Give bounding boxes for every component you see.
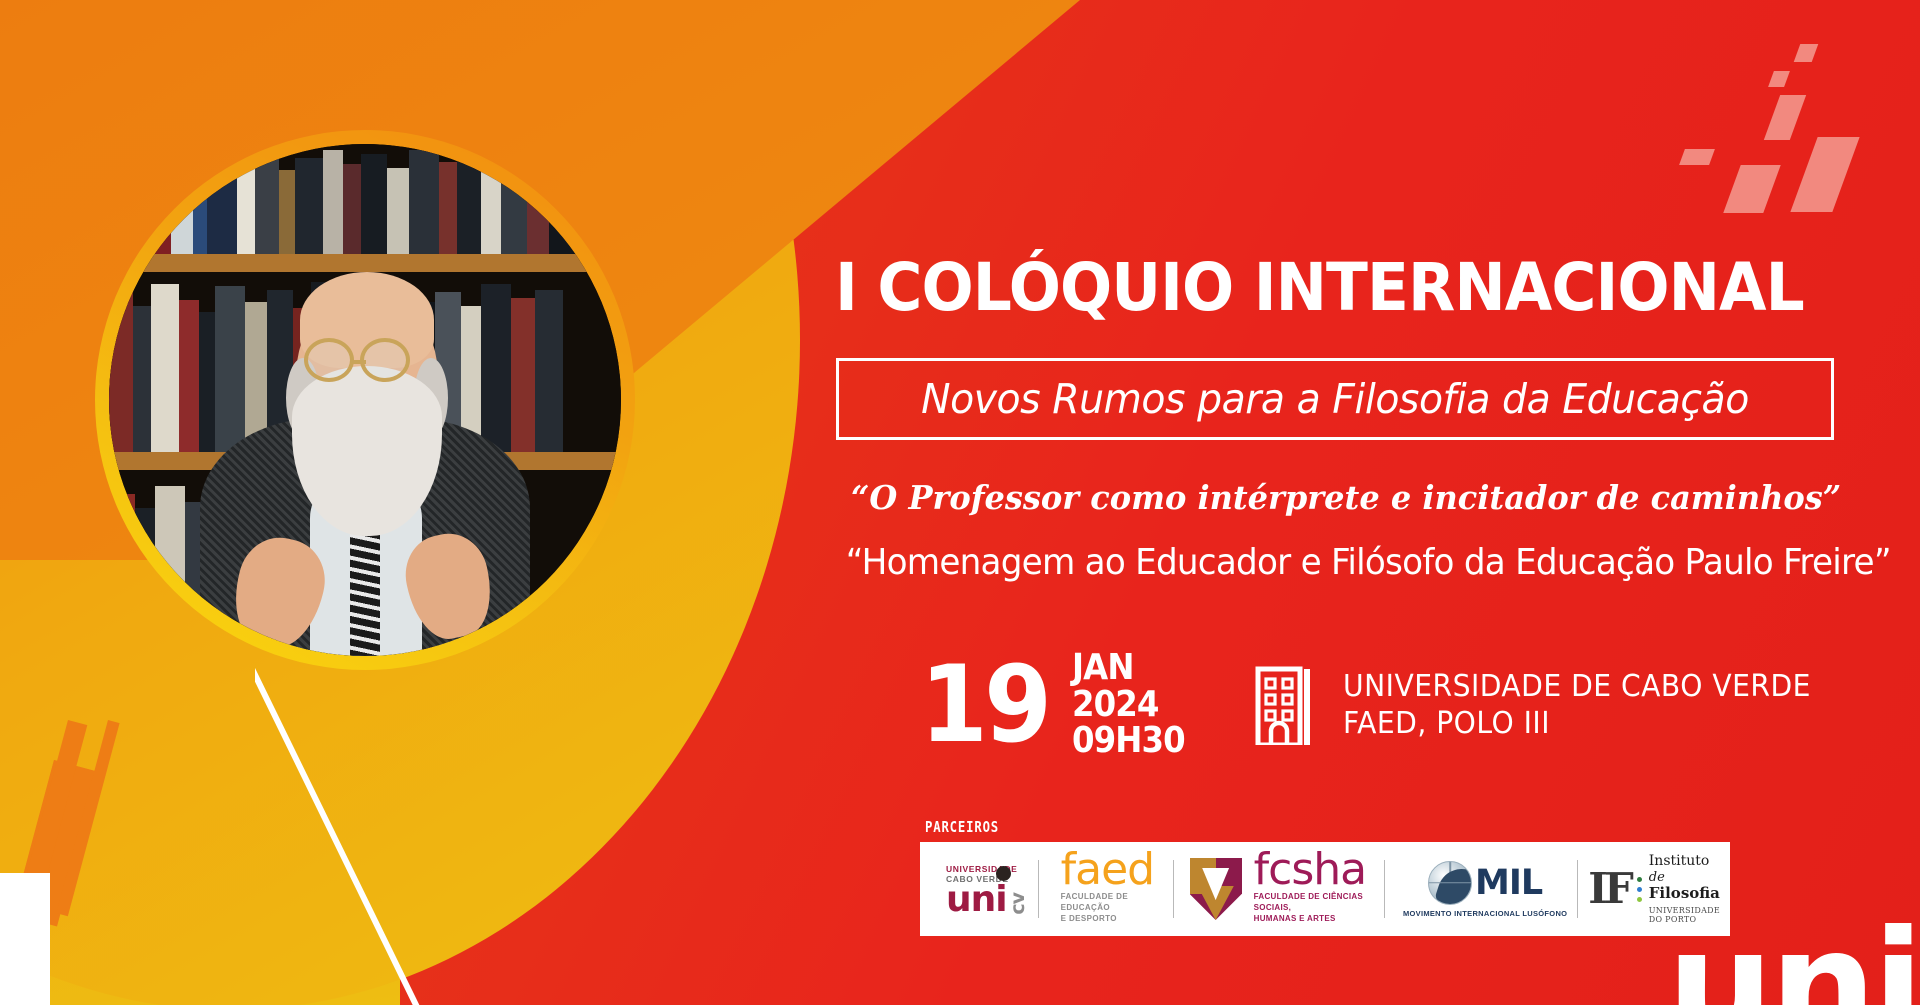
event-day: 19 — [920, 662, 1048, 749]
fcsha-sub-1: FACULDADE DE CIÊNCIAS SOCIAIS, — [1254, 892, 1363, 912]
portrait-frame — [95, 130, 635, 670]
if-dots-icon — [1637, 877, 1642, 902]
unicv-wordmark: uni — [946, 885, 1007, 915]
diagonal-stripes-ornament — [40, 720, 300, 1005]
partner-logo-fcsha: fcsha FACULDADE DE CIÊNCIAS SOCIAIS, HUM… — [1174, 842, 1384, 936]
mil-wordmark: MIL — [1475, 869, 1542, 897]
if-line-1: Instituto — [1649, 853, 1720, 870]
partner-logo-mil: MIL MOVIMENTO INTERNACIONAL LUSÓFONO — [1385, 842, 1577, 936]
partners-label: PARCEIROS — [925, 818, 999, 836]
faed-sub-1: FACULDADE DE EDUCAÇÃO — [1061, 892, 1128, 912]
unicv-cv-mark: cv — [1009, 893, 1028, 915]
clipped-wordmark: uni — [1667, 911, 1920, 1005]
event-poster: I COLÓQUIO INTERNACIONAL Novos Rumos par… — [0, 0, 1920, 1005]
quote-script-text: “O Professor como intérprete e incitador… — [851, 478, 1821, 517]
event-info: 19 JAN 2024 09H30 — [920, 650, 1841, 760]
portrait-figure — [200, 238, 530, 656]
quote-tribute-text: “Homenagem ao Educador e Filósofo da Edu… — [846, 542, 1825, 583]
bottom-left-white-notch — [0, 873, 50, 1005]
partner-logo-faed: faed FACULDADE DE EDUCAÇÃO E DESPORTO — [1039, 842, 1173, 936]
mil-sub: MOVIMENTO INTERNACIONAL LUSÓFONO — [1403, 909, 1567, 918]
subtitle-text: Novos Rumos para a Filosofia da Educação — [859, 361, 1811, 437]
fcsha-shield-icon — [1190, 858, 1242, 920]
content-column: I COLÓQUIO INTERNACIONAL Novos Rumos par… — [820, 0, 1920, 1005]
fcsha-sub-2: HUMANAS E ARTES — [1254, 914, 1336, 923]
venue-line-1: UNIVERSIDADE DE CABO VERDE — [1343, 668, 1811, 706]
building-icon — [1255, 665, 1313, 745]
fcsha-wordmark: fcsha — [1254, 853, 1374, 887]
eyeglasses-bridge — [352, 360, 366, 364]
event-venue: UNIVERSIDADE DE CABO VERDE FAED, POLO II… — [1343, 668, 1811, 743]
eyeglasses-right-lens — [360, 338, 410, 382]
eyeglasses-left-lens — [304, 338, 354, 382]
event-year: 2024 — [1072, 687, 1185, 724]
faed-sub-2: E DESPORTO — [1061, 914, 1117, 923]
subtitle-box: Novos Rumos para a Filosofia da Educação — [836, 358, 1834, 440]
event-month: JAN — [1072, 650, 1185, 687]
faed-wordmark: faed — [1061, 853, 1163, 887]
portrait-photo-paulo-freire — [109, 144, 621, 656]
event-time: 09H30 — [1072, 723, 1185, 760]
partners-logo-bar: UNIVERSIDADE CABO VERDE uni cv faed FACU… — [920, 842, 1730, 936]
if-line-2: de — [1649, 870, 1720, 885]
venue-line-2: FAED, POLO III — [1343, 705, 1811, 743]
unicv-sup-1: UNIVERSIDADE — [946, 864, 1028, 875]
partner-logo-unicv: UNIVERSIDADE CABO VERDE uni cv — [920, 842, 1038, 936]
mil-globe-icon — [1428, 861, 1472, 905]
page-title: I COLÓQUIO INTERNACIONAL — [835, 256, 1825, 319]
if-monogram-icon: IF — [1588, 872, 1629, 906]
unicv-dot-icon — [996, 866, 1011, 881]
event-date: 19 JAN 2024 09H30 — [920, 650, 1197, 760]
event-month-year-time: JAN 2024 09H30 — [1072, 650, 1185, 760]
